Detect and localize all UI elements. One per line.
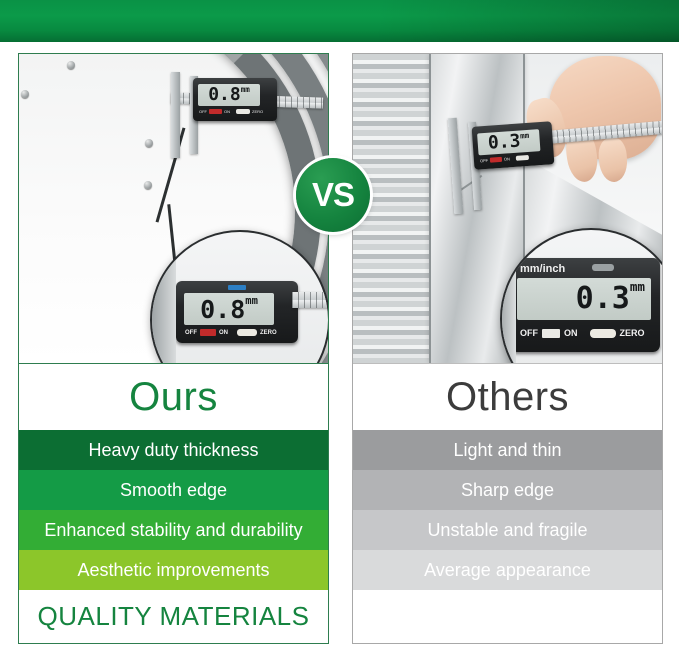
others-feature-row-4: Average appearance	[353, 550, 662, 590]
ours-feature-row-1: Heavy duty thickness	[19, 430, 328, 470]
caliper-zero-button	[236, 109, 250, 114]
others-panel: 0.3 mm OFF ON mm/inch	[352, 53, 663, 644]
caliper-zero-label: ZERO	[252, 109, 263, 114]
caliper-power-switch	[209, 109, 222, 114]
ours-product-photo: 0.8 mm OFF ON ZERO	[19, 54, 328, 363]
others-feature-row-1: Light and thin	[353, 430, 662, 470]
ours-feature-row-4: Aesthetic improvements	[19, 550, 328, 590]
metal-panel-left-edge	[429, 54, 431, 363]
magnified-on-label: ON	[219, 330, 228, 336]
caliper-display-housing: 0.8 mm OFF ON ZERO	[193, 78, 277, 121]
magnified-off-label: OFF	[185, 330, 197, 336]
magnified-value: 0.8	[200, 297, 245, 322]
ours-feature-row-2: Smooth edge	[19, 470, 328, 510]
magnified-on-label: ON	[564, 328, 578, 338]
magnified-value: 0.3	[576, 284, 630, 314]
ours-photo-scene: 0.8 mm OFF ON ZERO	[19, 54, 328, 363]
ours-feature-row-3: Enhanced stability and durability	[19, 510, 328, 550]
magnified-display-housing: mm/inch 0.3 mm OFF ON ZERO	[510, 258, 660, 352]
magnified-scale-bar	[292, 292, 328, 308]
vs-badge: VS	[296, 158, 370, 232]
middle-finger	[597, 137, 628, 183]
magnified-brand-badge	[228, 285, 246, 290]
magnified-button-row: OFF ON ZERO	[520, 328, 645, 338]
others-feature-row-2: Sharp edge	[353, 470, 662, 510]
caliper-value: 0.8	[208, 86, 241, 104]
magnified-zero-label: ZERO	[260, 330, 277, 336]
top-green-banner	[0, 0, 679, 42]
magnified-power-switch	[200, 329, 216, 336]
ours-feature-list: Heavy duty thickness Smooth edge Enhance…	[19, 430, 328, 590]
caliper-off-label: OFF	[199, 109, 207, 114]
magnified-display-housing: 0.8 mm OFF ON ZERO	[176, 281, 298, 343]
magnified-off-label: OFF	[520, 328, 538, 338]
magnified-lcd: 0.3 mm	[517, 278, 651, 320]
magnified-jaw	[152, 232, 176, 363]
magnified-button-row: OFF ON ZERO	[185, 329, 277, 336]
ours-panel: 0.8 mm OFF ON ZERO	[18, 53, 329, 644]
caliper-on-label: ON	[224, 109, 230, 114]
others-title: Others	[353, 363, 662, 431]
caliper-display-housing: 0.3 mm OFF ON	[472, 121, 555, 169]
ours-title: Ours	[19, 363, 328, 431]
caliper-power-switch	[490, 157, 502, 163]
magnified-unit: mm	[245, 296, 258, 307]
ring-bolt	[144, 181, 152, 189]
magnified-ticks	[292, 292, 328, 308]
caliper-zero-button	[516, 155, 529, 161]
comparison-stage: 0.8 mm OFF ON ZERO	[0, 42, 679, 658]
caliper-value: 0.3	[487, 132, 521, 152]
magnified-lcd: 0.8 mm	[184, 293, 274, 325]
others-photo-scene: 0.3 mm OFF ON mm/inch	[353, 54, 662, 363]
others-product-photo: 0.3 mm OFF ON mm/inch	[353, 54, 662, 363]
magnified-mode-button	[592, 264, 614, 271]
caliper-on-label: ON	[504, 156, 510, 161]
caliper-off-label: OFF	[480, 158, 488, 164]
ring-bolt	[145, 139, 153, 147]
magnified-unit: mm	[630, 281, 645, 294]
magnified-zero-label: ZERO	[620, 328, 645, 338]
others-feature-list: Light and thin Sharp edge Unstable and f…	[353, 430, 662, 590]
others-footer-tagline	[353, 590, 662, 643]
caliper-lcd: 0.3 mm	[477, 129, 540, 155]
magnified-jaw	[502, 230, 516, 363]
others-feature-row-3: Unstable and fragile	[353, 510, 662, 550]
magnified-zero-button	[590, 329, 616, 338]
magnified-mode-label: mm/inch	[520, 263, 565, 275]
caliper-lcd: 0.8 mm	[198, 84, 260, 106]
magnified-zero-button	[237, 329, 257, 336]
ring-bolt	[21, 90, 29, 98]
caliper-button-row: OFF ON ZERO	[199, 109, 263, 114]
ring-bolt	[67, 61, 75, 69]
ours-footer-tagline: QUALITY MATERIALS	[19, 590, 328, 643]
caliper-fixed-jaw	[171, 72, 180, 158]
caliper-button-row: OFF ON	[480, 155, 529, 163]
caliper-unit: mm	[241, 86, 250, 94]
magnified-power-switch	[542, 329, 560, 338]
caliper-unit: mm	[520, 132, 530, 140]
